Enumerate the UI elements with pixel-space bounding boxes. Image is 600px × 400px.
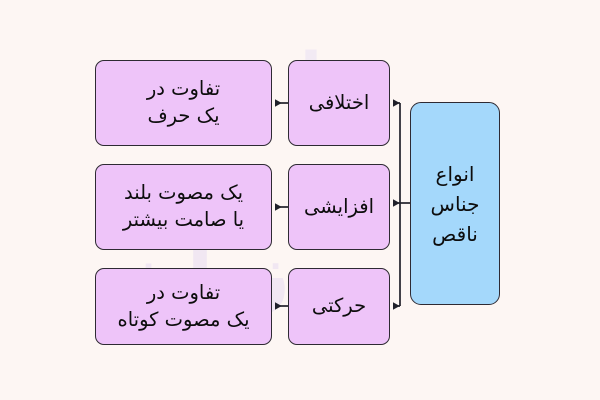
diagram-canvas: زبان را انواع جناس ناقص اختلافی [0,0,600,400]
detail-node-harekati[interactable]: تفاوت در یک مصوت کوتاه [95,268,272,345]
detail-node-afzayeshi[interactable]: یک مصوت بلند یا صامت بیشتر [95,164,272,250]
root-node[interactable]: انواع جناس ناقص [410,102,500,305]
category-node-afzayeshi[interactable]: افزایشی [288,164,390,250]
category-node-harekati[interactable]: حرکتی [288,268,390,345]
category-node-ekhtelafi[interactable]: اختلافی [288,60,390,146]
detail-node-ekhtelafi[interactable]: تفاوت در یک حرف [95,60,272,146]
